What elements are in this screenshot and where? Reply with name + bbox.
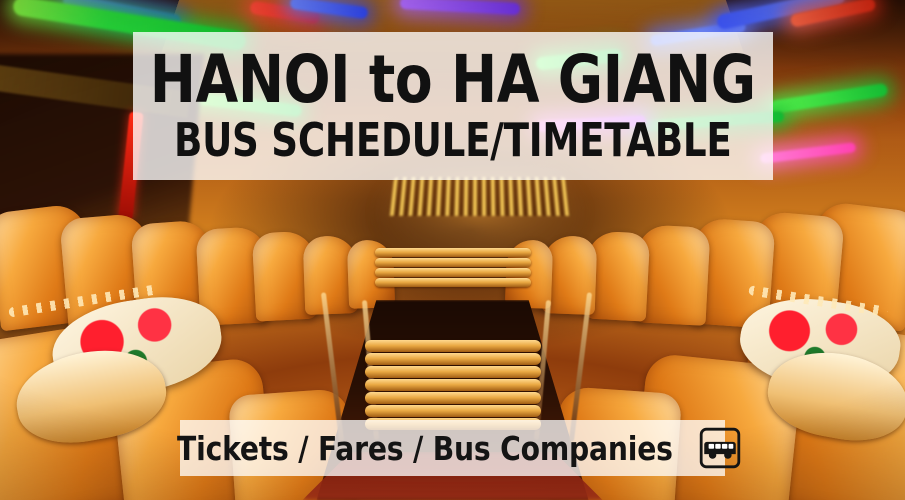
hanoi-ha-giang-bus-banner: HANOI to HA GIANG BUS SCHEDULE/TIMETABLE… — [0, 0, 905, 500]
bus-icon — [699, 427, 741, 469]
page-title: HANOI to HA GIANG — [150, 49, 756, 111]
folded-blanket — [375, 258, 531, 267]
folded-blanket — [365, 353, 541, 365]
rear-valance — [390, 177, 570, 216]
cta-label: Tickets / Fares / Bus Companies — [177, 429, 673, 468]
folded-blanket — [375, 278, 531, 287]
neon-tube-pink-icon — [760, 142, 857, 164]
folded-blanket-stack — [375, 248, 531, 288]
folded-blanket — [375, 248, 531, 257]
folded-blanket — [375, 268, 531, 277]
title-banner: HANOI to HA GIANG BUS SCHEDULE/TIMETABLE — [133, 32, 773, 180]
neon-tube-violet-icon — [400, 0, 520, 15]
folded-blanket — [365, 392, 541, 404]
folded-blanket — [365, 405, 541, 417]
folded-blanket — [365, 379, 541, 391]
neon-tube-blue-icon — [290, 0, 369, 19]
cta-banner[interactable]: Tickets / Fares / Bus Companies — [180, 420, 725, 476]
folded-blanket — [365, 340, 541, 352]
folded-blanket — [365, 366, 541, 378]
page-subtitle: BUS SCHEDULE/TIMETABLE — [174, 117, 732, 163]
